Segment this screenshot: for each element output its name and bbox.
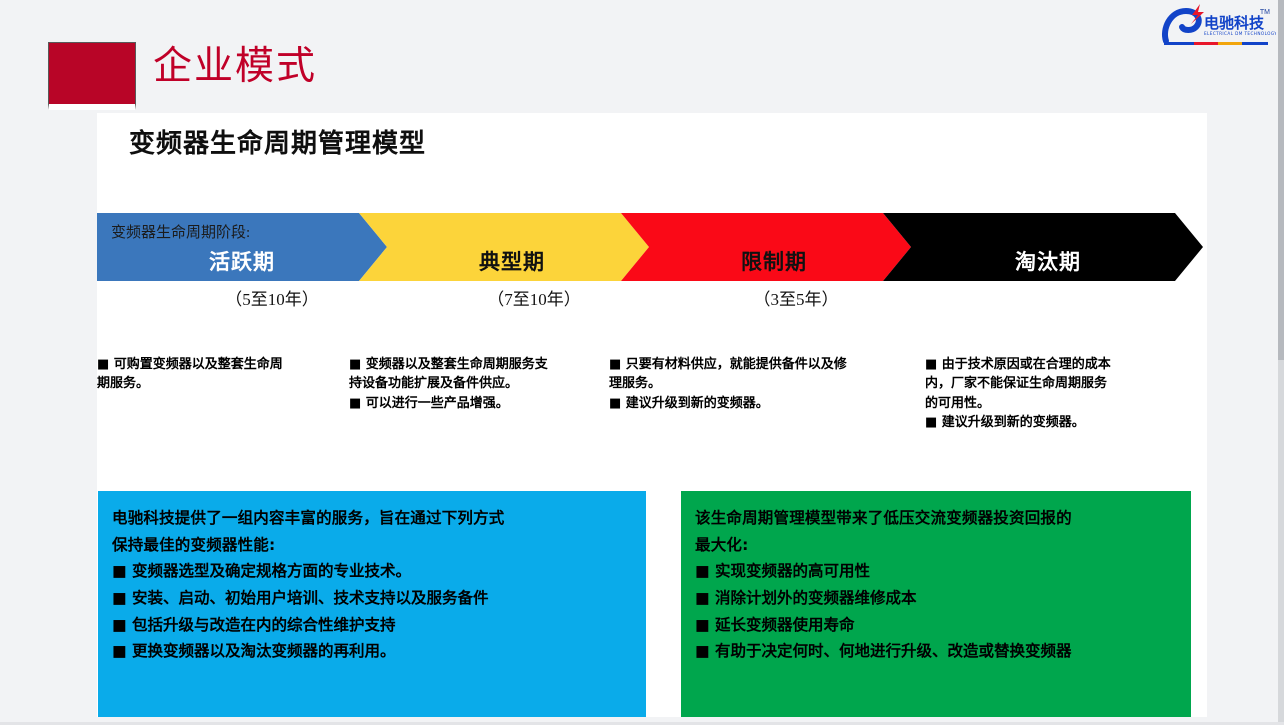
blue-box-bullet: ■ 变频器选型及确定规格方面的专业技术。 <box>112 558 630 585</box>
trademark-mark: TM <box>1260 9 1270 16</box>
blue-box-bullet: ■ 包括升级与改造在内的综合性维护支持 <box>112 612 630 639</box>
note-line: 的可用性。 <box>925 395 1187 413</box>
dianchi-logo-icon: 电驰科技 ELECTRICAL DM TECHNOLOGY <box>1156 1 1276 49</box>
blue-box-bullet: ■ 安装、启动、初始用户培训、技术支持以及服务备件 <box>112 585 630 612</box>
chevron-stage-obsolete: 淘汰期 <box>883 213 1203 281</box>
benefits-green-box: 该生命周期管理模型带来了低压交流变频器投资回报的 最大化: ■ 实现变频器的高可… <box>681 491 1191 717</box>
chevron-stage-typical: 典型期 <box>359 213 649 281</box>
blue-box-bullet: ■ 更换变频器以及淘汰变频器的再利用。 <box>112 638 630 665</box>
note-line: 期服务。 <box>97 375 347 393</box>
company-logo: 电驰科技 ELECTRICAL DM TECHNOLOGY TM <box>1156 1 1276 49</box>
stage-label: 限制期 <box>741 252 807 281</box>
green-box-bullet: ■ 消除计划外的变频器维修成本 <box>695 585 1175 612</box>
note-column-limited: ■ 只要有材料供应，就能提供备件以及修 理服务。 ■ 建议升级到新的变频器。 <box>609 356 911 414</box>
note-line: 持设备功能扩展及备件供应。 <box>349 375 605 393</box>
green-box-lead-line: 该生命周期管理模型带来了低压交流变频器投资回报的 <box>695 505 1175 532</box>
band-caption: 变频器生命周期阶段: <box>111 221 250 242</box>
note-column-obsolete: ■ 由于技术原因或在合理的成本 内，厂家不能保证生命周期服务 的可用性。 ■ 建… <box>925 356 1187 434</box>
stage-years-active: （5至10年） <box>127 285 417 311</box>
note-line: ■ 由于技术原因或在合理的成本 <box>925 356 1187 374</box>
note-line: ■ 可购置变频器以及整套生命周 <box>97 356 347 374</box>
note-line: ■ 只要有材料供应，就能提供备件以及修 <box>609 356 911 374</box>
slide-viewer: 企业模式 电驰科技 ELECTRICAL DM TECHNOLOGY TM 变频… <box>0 0 1284 725</box>
vertical-scrollbar-thumb[interactable] <box>1278 0 1284 360</box>
note-line: 理服务。 <box>609 375 911 393</box>
vertical-scrollbar-track[interactable] <box>1278 0 1284 725</box>
slide-heading: 变频器生命周期管理模型 <box>129 123 426 160</box>
note-line: ■ 建议升级到新的变频器。 <box>925 414 1187 432</box>
services-blue-box: 电驰科技提供了一组内容丰富的服务，旨在通过下列方式 保持最佳的变频器性能: ■ … <box>98 491 646 717</box>
green-box-bullet: ■ 实现变频器的高可用性 <box>695 558 1175 585</box>
note-column-typical: ■ 变频器以及整套生命周期服务支 持设备功能扩展及备件供应。 ■ 可以进行一些产… <box>349 356 605 414</box>
stage-label: 活跃期 <box>209 252 275 281</box>
svg-text:电驰科技: 电驰科技 <box>1204 14 1265 32</box>
stage-years-typical: （7至10年） <box>389 285 679 311</box>
stage-label: 典型期 <box>479 252 545 281</box>
blue-box-lead-line: 电驰科技提供了一组内容丰富的服务，旨在通过下列方式 <box>112 505 630 532</box>
note-line: ■ 可以进行一些产品增强。 <box>349 395 605 413</box>
stage-years-obsolete <box>913 285 1203 311</box>
stage-notes: ■ 可购置变频器以及整套生命周 期服务。 ■ 变频器以及整套生命周期服务支 持设… <box>97 356 1207 466</box>
svg-text:ELECTRICAL DM TECHNOLOGY: ELECTRICAL DM TECHNOLOGY <box>1204 31 1276 36</box>
stage-years-limited: （3至5年） <box>651 285 941 311</box>
note-column-active: ■ 可购置变频器以及整套生命周 期服务。 <box>97 356 347 395</box>
stage-label: 淘汰期 <box>1015 252 1081 281</box>
title-red-block <box>48 42 136 110</box>
note-line: ■ 建议升级到新的变频器。 <box>609 395 911 413</box>
green-box-bullet: ■ 延长变频器使用寿命 <box>695 612 1175 639</box>
green-box-bullet: ■ 有助于决定何时、何地进行升级、改造或替换变频器 <box>695 638 1175 665</box>
note-line: ■ 变频器以及整套生命周期服务支 <box>349 356 605 374</box>
chevron-stage-limited: 限制期 <box>621 213 911 281</box>
slide-panel: 变频器生命周期管理模型 活跃期 典型期 限制期 淘汰期 变频器生命周期阶段: （… <box>97 113 1207 717</box>
lifecycle-chevron-band: 活跃期 典型期 限制期 淘汰期 变频器生命周期阶段: <box>97 213 1207 281</box>
green-box-lead-line: 最大化: <box>695 532 1175 559</box>
blue-box-lead-line: 保持最佳的变频器性能: <box>112 532 630 559</box>
note-line: 内，厂家不能保证生命周期服务 <box>925 375 1187 393</box>
page-title: 企业模式 <box>153 46 317 89</box>
